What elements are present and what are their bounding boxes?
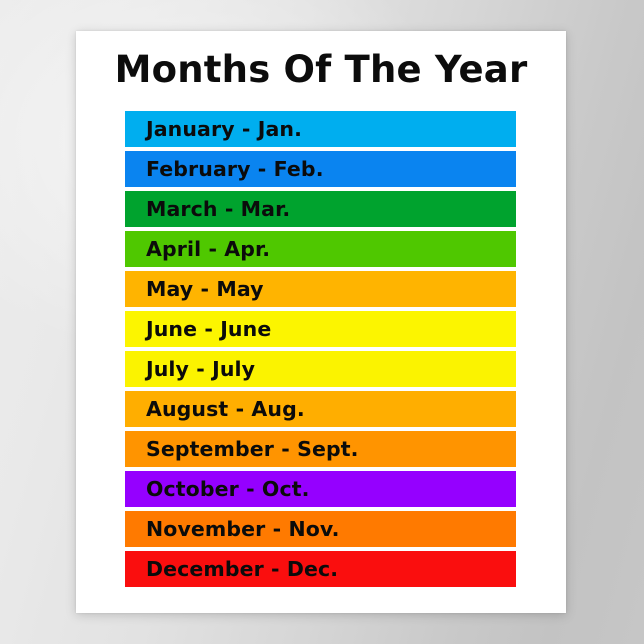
month-row: May - May — [125, 271, 516, 307]
month-row: September - Sept. — [125, 431, 516, 467]
poster-canvas: Months Of The Year January - Jan.Februar… — [76, 31, 566, 613]
month-label: January - Jan. — [146, 119, 302, 140]
month-row: July - July — [125, 351, 516, 387]
month-label: April - Apr. — [146, 239, 270, 260]
month-label: December - Dec. — [146, 559, 338, 580]
poster-scene: Months Of The Year January - Jan.Februar… — [0, 0, 644, 644]
month-label: August - Aug. — [146, 399, 305, 420]
month-row: February - Feb. — [125, 151, 516, 187]
month-label: October - Oct. — [146, 479, 310, 500]
page-title: Months Of The Year — [76, 51, 566, 90]
month-row: August - Aug. — [125, 391, 516, 427]
month-label: November - Nov. — [146, 519, 340, 540]
month-row: December - Dec. — [125, 551, 516, 587]
month-row: November - Nov. — [125, 511, 516, 547]
month-row: October - Oct. — [125, 471, 516, 507]
month-label: June - June — [146, 319, 271, 340]
month-label: September - Sept. — [146, 439, 359, 460]
month-row: April - Apr. — [125, 231, 516, 267]
month-label: February - Feb. — [146, 159, 324, 180]
month-row: January - Jan. — [125, 111, 516, 147]
month-label: March - Mar. — [146, 199, 290, 220]
month-row: June - June — [125, 311, 516, 347]
month-label: May - May — [146, 279, 264, 300]
month-label: July - July — [146, 359, 255, 380]
months-list: January - Jan.February - Feb.March - Mar… — [125, 111, 516, 587]
month-row: March - Mar. — [125, 191, 516, 227]
